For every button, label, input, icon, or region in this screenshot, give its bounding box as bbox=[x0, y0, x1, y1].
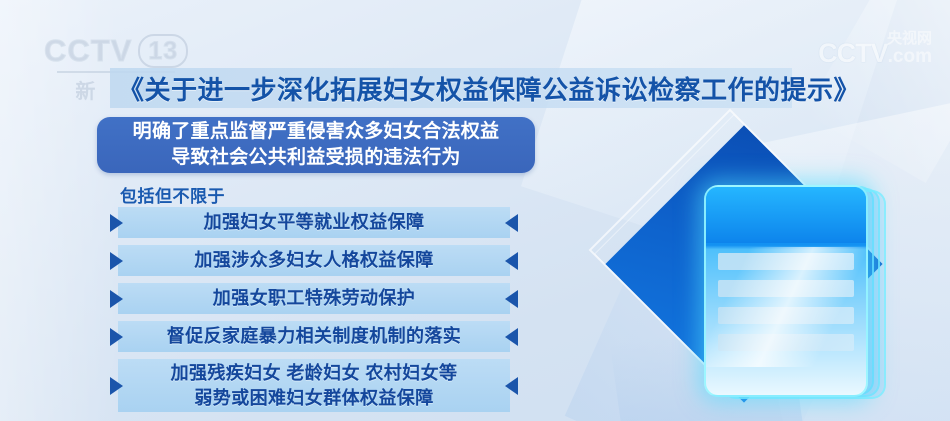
triangle-left-icon bbox=[505, 214, 518, 232]
triangle-right-icon bbox=[110, 214, 123, 232]
document-icon bbox=[704, 185, 868, 397]
document-graphic bbox=[604, 148, 950, 421]
list-item-label-multiline: 加强残疾妇女 老龄妇女 农村妇女等 弱势或困难妇女群体权益保障 bbox=[145, 361, 484, 411]
statement-line-1: 明确了重点监督严重侵害众多妇女合法权益 bbox=[133, 119, 500, 145]
statement-box: 明确了重点监督严重侵害众多妇女合法权益 导致社会公共利益受损的违法行为 bbox=[97, 117, 535, 173]
triangle-right-icon bbox=[110, 377, 123, 395]
watermark-chinese-text: 央视网 bbox=[887, 31, 932, 46]
list-item-label-line-1: 加强残疾妇女 老龄妇女 农村妇女等 bbox=[171, 363, 458, 383]
cctv-com-watermark: 央视网 CCTV.com bbox=[818, 40, 932, 67]
triangle-left-icon bbox=[505, 252, 518, 270]
list-item: 加强妇女平等就业权益保障 bbox=[118, 207, 510, 238]
triangle-right-icon bbox=[110, 252, 123, 270]
document-glare bbox=[704, 247, 868, 367]
list-item-label: 加强女职工特殊劳动保护 bbox=[187, 286, 441, 311]
broadcast-graphic-stage: CCTV 13 新 闻 央视网 CCTV.com 《关于进一步深化拓展妇女权益保… bbox=[0, 0, 950, 421]
watermark-cctv-text: CCTV bbox=[818, 38, 888, 68]
statement-line-2: 导致社会公共利益受损的违法行为 bbox=[171, 145, 461, 171]
list-item-label-line-2: 弱势或困难妇女群体权益保障 bbox=[194, 388, 433, 408]
watermark-com-text: .com bbox=[888, 46, 932, 67]
triangle-right-icon bbox=[110, 328, 123, 346]
channel-number-badge: 13 bbox=[138, 34, 188, 68]
triangle-left-icon bbox=[505, 328, 518, 346]
cctv13-logo-row: CCTV 13 bbox=[44, 33, 188, 69]
triangle-left-icon bbox=[505, 377, 518, 395]
page-title: 《关于进一步深化拓展妇女权益保障公益诉讼检察工作的提示》 bbox=[118, 70, 798, 106]
list-item-label: 加强涉众多妇女人格权益保障 bbox=[168, 248, 459, 273]
cctv-logo-text: CCTV bbox=[44, 33, 132, 69]
document-header-band bbox=[706, 187, 866, 243]
list-item: 加强涉众多妇女人格权益保障 bbox=[118, 245, 510, 276]
bullet-list: 加强妇女平等就业权益保障 加强涉众多妇女人格权益保障 加强女职工特殊劳动保护 督… bbox=[118, 207, 510, 419]
list-item: 加强女职工特殊劳动保护 bbox=[118, 283, 510, 314]
list-item: 督促反家庭暴力相关制度机制的落实 bbox=[118, 321, 510, 352]
list-item-label: 督促反家庭暴力相关制度机制的落实 bbox=[151, 324, 477, 349]
list-item-label: 加强妇女平等就业权益保障 bbox=[178, 210, 451, 235]
list-item: 加强残疾妇女 老龄妇女 农村妇女等 弱势或困难妇女群体权益保障 bbox=[118, 359, 510, 412]
triangle-left-icon bbox=[505, 290, 518, 308]
includes-label: 包括但不限于 bbox=[120, 182, 225, 207]
triangle-right-icon bbox=[110, 290, 123, 308]
